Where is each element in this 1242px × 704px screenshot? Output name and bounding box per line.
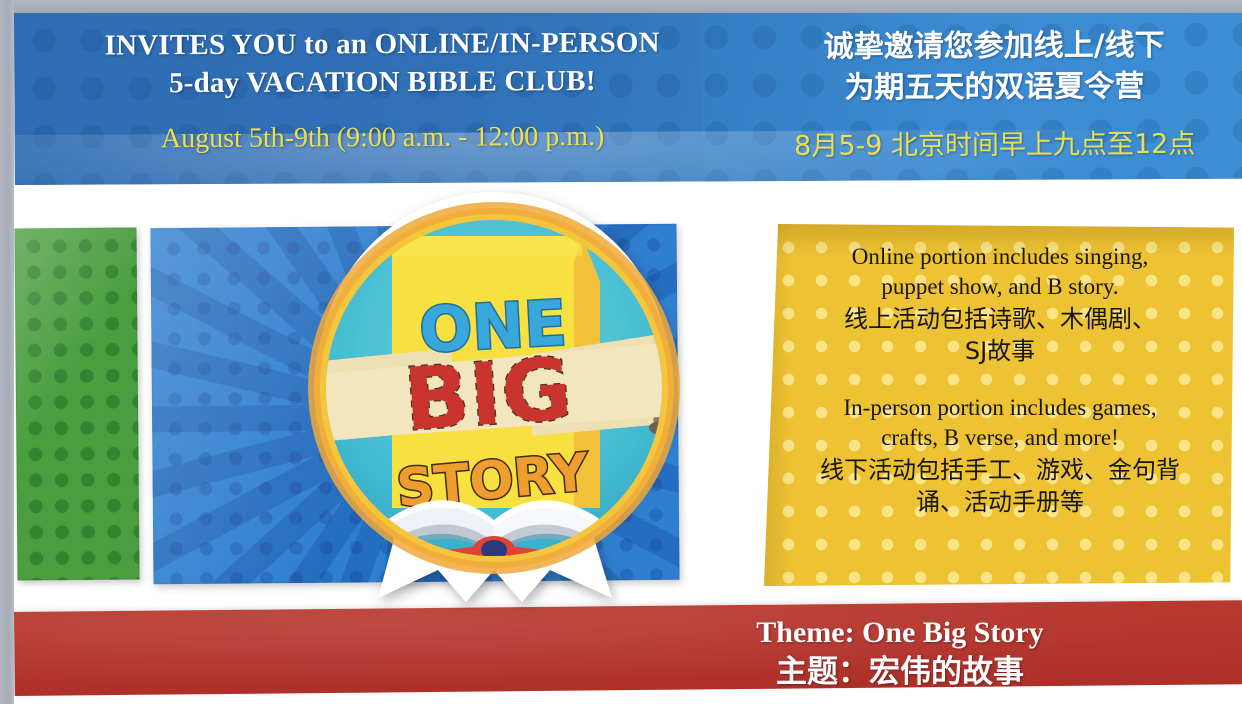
slide-canvas: Online portion includes singing, puppet … — [0, 0, 1242, 704]
header-chinese-title: 诚挚邀请您参加线上/线下 为期五天的双语夏令营 — [744, 25, 1242, 110]
header-chinese-line2: 为期五天的双语夏令营 — [744, 66, 1242, 110]
inperson-chinese-line2: 诵、活动手册等 — [798, 486, 1202, 518]
frame-left-border — [0, 0, 14, 704]
decorative-green-panel — [14, 227, 139, 580]
inperson-chinese-line1: 线下活动包括手工、游戏、金句背 — [798, 454, 1202, 486]
inperson-english-line2: crafts, B verse, and more! — [798, 423, 1202, 453]
online-chinese-line1: 线上活动包括诗歌、木偶剧、 — [798, 303, 1202, 335]
info-block-inperson: In-person portion includes games, crafts… — [798, 393, 1202, 518]
header-chinese-line1: 诚挚邀请您参加线上/线下 — [744, 25, 1242, 69]
header-chinese-date: 8月5-9 北京时间早上九点至12点 — [745, 129, 1242, 164]
online-english-line1: Online portion includes singing, — [798, 242, 1202, 272]
header-english-line1: INVITES YOU to an ONLINE/IN-PERSON — [32, 23, 732, 65]
header-english-line2: 5-day VACATION BIBLE CLUB! — [32, 62, 732, 104]
one-big-story-logo: ONE BIG STORY — [282, 178, 706, 610]
theme-chinese: 主题：宏伟的故事 — [620, 652, 1180, 692]
header-banner: INVITES YOU to an ONLINE/IN-PERSON 5-day… — [14, 7, 1242, 185]
online-english-line2: puppet show, and B story. — [798, 272, 1202, 302]
theme-english: Theme: One Big Story — [620, 614, 1180, 652]
info-block-online: Online portion includes singing, puppet … — [798, 242, 1202, 367]
inperson-english-line1: In-person portion includes games, — [798, 393, 1202, 423]
frame-top-border — [0, 0, 1242, 13]
logo-word-big: BIG — [401, 339, 576, 450]
info-panel: Online portion includes singing, puppet … — [764, 224, 1234, 586]
header-english-title: INVITES YOU to an ONLINE/IN-PERSON 5-day… — [32, 23, 732, 103]
header-english-date: August 5th-9th (9:00 a.m. - 12:00 p.m.) — [33, 119, 733, 156]
info-panel-text: Online portion includes singing, puppet … — [798, 242, 1202, 544]
online-chinese-line2: SJ故事 — [798, 335, 1202, 367]
green-sheen — [14, 227, 139, 580]
theme-banner-text: Theme: One Big Story 主题：宏伟的故事 — [620, 614, 1180, 692]
